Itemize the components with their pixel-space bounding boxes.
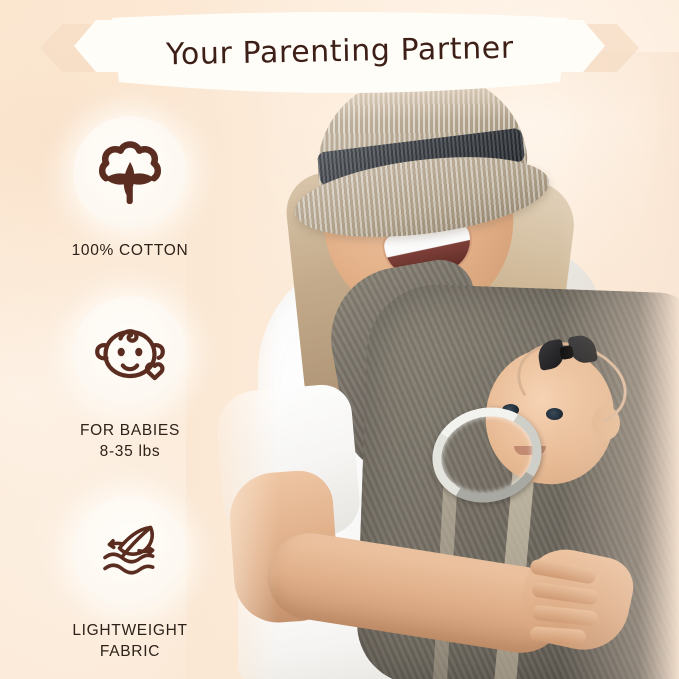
banner-title: Your Parenting Partner: [0, 34, 679, 69]
feature-label-line1: 100% COTTON: [72, 242, 189, 259]
feature-badge-circle: [73, 496, 187, 610]
feature-label-lightweight: LIGHTWEIGHT FABRIC: [18, 621, 242, 663]
feature-cotton: 100% COTTON: [18, 116, 242, 262]
product-image-canvas: Your Parenting Partner 100% COTTON: [0, 0, 679, 679]
baby-face-icon: [91, 317, 169, 389]
feature-babies: FOR BABIES 8-35 lbs: [18, 296, 242, 463]
feature-label-line1: LIGHTWEIGHT: [72, 622, 187, 639]
feature-badge-circle: [73, 116, 187, 230]
banner-title-text: Your Parenting Partner: [165, 31, 513, 73]
feature-label-line1: FOR BABIES: [80, 422, 180, 439]
feature-badge-circle: [73, 296, 187, 410]
feather-fabric-icon: [90, 522, 170, 584]
feature-label-cotton: 100% COTTON: [18, 241, 242, 262]
feature-label-line2: FABRIC: [18, 642, 242, 663]
cotton-boll-icon: [92, 135, 168, 211]
banner: Your Parenting Partner: [0, 8, 679, 106]
feature-label-line2: 8-35 lbs: [18, 442, 242, 463]
feature-lightweight: LIGHTWEIGHT FABRIC: [18, 496, 242, 663]
mother-and-baby-photo: [186, 52, 679, 679]
feature-label-babies: FOR BABIES 8-35 lbs: [18, 421, 242, 463]
